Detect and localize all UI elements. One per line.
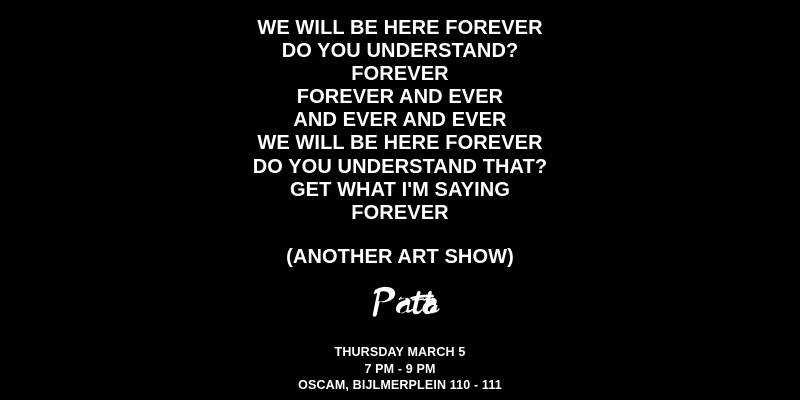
manifesto-line: FOREVER xyxy=(0,202,800,225)
event-venue: OSCAM, BIJLMERPLEIN 110 - 111 xyxy=(0,377,800,394)
event-time: 7 PM - 9 PM xyxy=(0,361,800,378)
event-date: THURSDAY MARCH 5 xyxy=(0,344,800,361)
poster-canvas: WE WILL BE HERE FOREVER DO YOU UNDERSTAN… xyxy=(0,0,800,400)
manifesto-line: FOREVER AND EVER xyxy=(0,86,800,109)
event-details-block: THURSDAY MARCH 5 7 PM - 9 PM OSCAM, BIJL… xyxy=(0,344,800,394)
show-title: (ANOTHER ART SHOW) xyxy=(0,246,800,269)
brand-logo xyxy=(0,285,800,321)
manifesto-line: AND EVER AND EVER xyxy=(0,109,800,132)
manifesto-line: FOREVER xyxy=(0,63,800,86)
manifesto-line: GET WHAT I'M SAYING xyxy=(0,179,800,202)
manifesto-line: DO YOU UNDERSTAND THAT? xyxy=(0,156,800,179)
manifesto-line: DO YOU UNDERSTAND? xyxy=(0,40,800,63)
patta-script-logo xyxy=(360,285,440,321)
manifesto-line: WE WILL BE HERE FOREVER xyxy=(0,17,800,40)
manifesto-text-block: WE WILL BE HERE FOREVER DO YOU UNDERSTAN… xyxy=(0,17,800,225)
manifesto-line: WE WILL BE HERE FOREVER xyxy=(0,132,800,155)
